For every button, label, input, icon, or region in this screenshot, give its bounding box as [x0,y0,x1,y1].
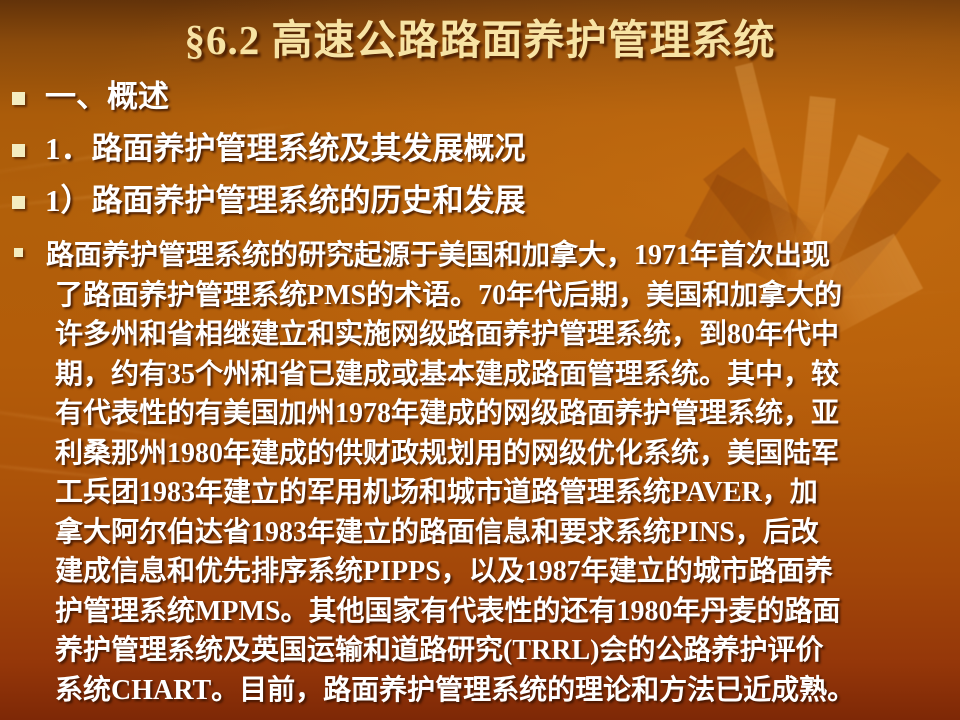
body-line: 工兵团1983年建立的军用机场和城市道路管理系统PAVER，加 [37,473,943,513]
body-line: 拿大阿尔伯达省1983年建立的路面信息和要求系统PINS，后改 [37,513,943,553]
body-line: 有代表性的有美国加州1978年建成的网级路面养护管理系统，亚 [37,394,943,434]
presentation-slide: §6.2 高速公路路面养护管理系统 一、概述 1．路面养护管理系统及其发展概况 … [0,0,960,720]
body-line: 路面养护管理系统的研究起源于美国和加拿大，1971年首次出现 [37,236,943,276]
bullet-item-3-label: 1）路面养护管理系统的历史和发展 [45,182,526,221]
body-line: 护管理系统MPMS。其他国家有代表性的还有1980年丹麦的路面 [37,592,943,632]
bullet-item-2: 1．路面养护管理系统及其发展概况 [12,130,526,169]
body-line: 利桑那州1980年建成的供财政规划用的网级优化系统，美国陆军 [37,434,943,474]
bullet-item-1: 一、概述 [12,78,169,117]
square-bullet-icon [12,144,25,157]
bullet-item-3: 1）路面养护管理系统的历史和发展 [12,182,526,221]
body-line: 期，约有35个州和省已建成或基本建成路面管理系统。其中，较 [37,355,943,395]
bullet-item-1-label: 一、概述 [45,78,169,117]
slide-content: §6.2 高速公路路面养护管理系统 一、概述 1．路面养护管理系统及其发展概况 … [0,0,960,720]
square-bullet-icon [12,92,25,105]
body-line: 养护管理系统及英国运输和道路研究(TRRL)会的公路养护评价 [37,631,943,671]
body-paragraph-lines: 路面养护管理系统的研究起源于美国和加拿大，1971年首次出现 了路面养护管理系统… [37,236,943,710]
bullet-item-2-label: 1．路面养护管理系统及其发展概况 [45,130,526,169]
body-paragraph: 路面养护管理系统的研究起源于美国和加拿大，1971年首次出现 了路面养护管理系统… [14,236,950,710]
square-bullet-icon [12,196,25,209]
body-line: 许多州和省相继建立和实施网级路面养护管理系统，到80年代中 [37,315,943,355]
body-line: 建成信息和优先排序系统PIPPS，以及1987年建立的城市路面养 [37,552,943,592]
square-bullet-small-icon [14,248,23,257]
body-line: 了路面养护管理系统PMS的术语。70年代后期，美国和加拿大的 [37,276,943,316]
body-line: 系统CHART。目前，路面养护管理系统的理论和方法已近成熟。 [37,671,943,711]
page-title: §6.2 高速公路路面养护管理系统 [0,6,960,66]
